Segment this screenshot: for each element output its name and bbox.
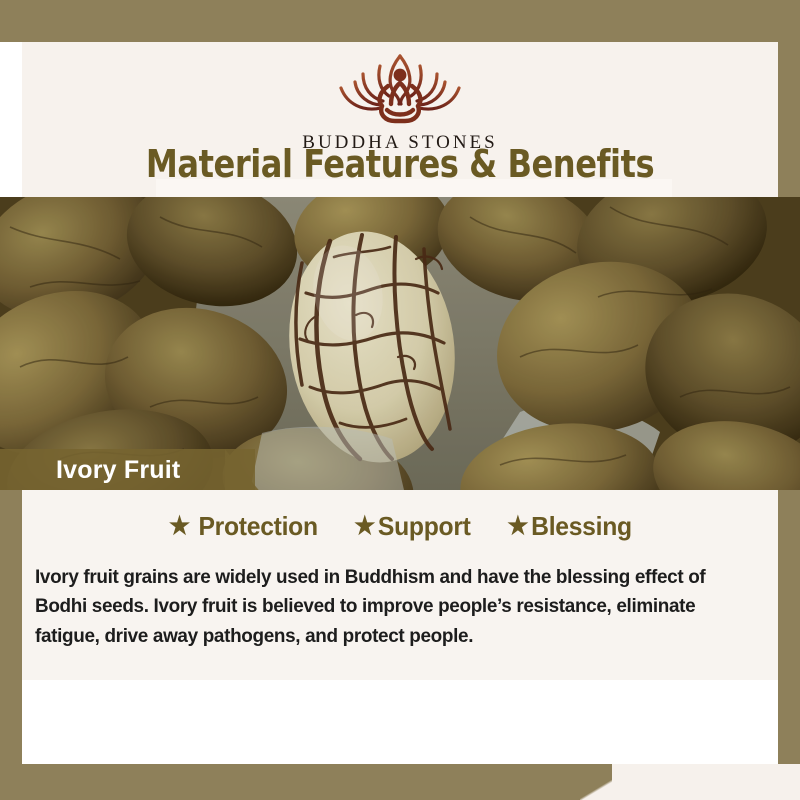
page-title: Material Features & Benefits	[45, 142, 756, 186]
frame-band-left	[0, 480, 22, 800]
frame-band-bottom-fill	[612, 764, 800, 800]
benefit-item-protection: ★ Protection	[169, 511, 318, 542]
ivory-fruit-photo	[0, 197, 800, 490]
lotus-meditation-figure-icon	[325, 44, 475, 130]
star-icon: ★	[169, 514, 190, 539]
benefit-item-support: ★ Support	[355, 511, 472, 542]
benefit-item-blessing: ★ Blessing	[507, 511, 632, 542]
frame-band-top	[0, 0, 800, 42]
frame-band-bottom	[0, 764, 612, 800]
description-text: Ivory fruit grains are widely used in Bu…	[35, 563, 724, 651]
star-icon: ★	[355, 514, 376, 539]
poster-root: BUDDHA STONES Material Features & Benefi…	[0, 0, 800, 800]
photo-caption-band-diagonal	[225, 449, 259, 490]
benefits-row: ★ Protection ★ Support ★ Blessing	[22, 511, 778, 542]
star-icon: ★	[507, 514, 528, 539]
photo-illustration	[0, 197, 800, 490]
benefit-label-blessing: Blessing	[531, 511, 632, 542]
brand-logo: BUDDHA STONES	[22, 44, 778, 154]
benefit-label-support: Support	[378, 511, 471, 542]
benefit-label-protection: Protection	[198, 511, 317, 542]
photo-caption-label: Ivory Fruit	[56, 456, 180, 485]
